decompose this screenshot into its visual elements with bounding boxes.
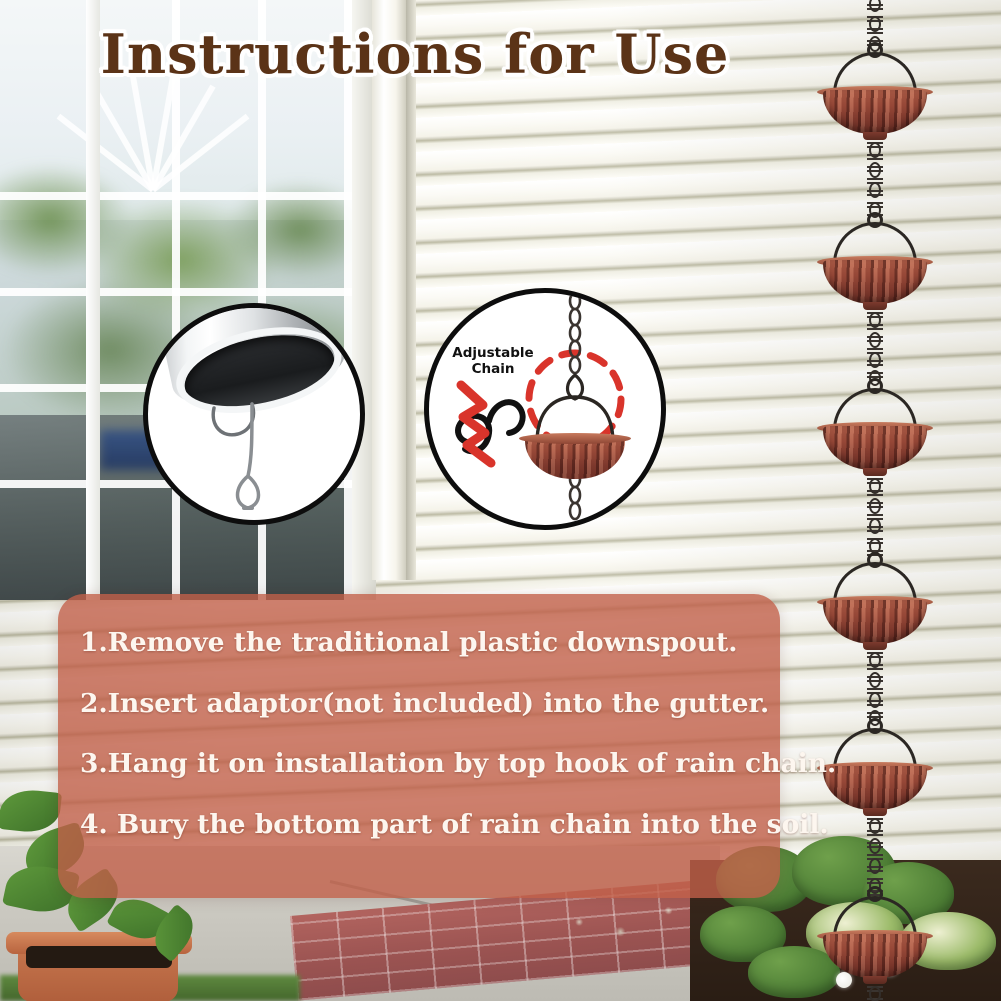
rain-chain: [805, 0, 945, 1001]
chain-link: [869, 858, 881, 874]
cup-bowl: [823, 600, 927, 644]
instruction-list: 1.Remove the traditional plastic downspo…: [58, 594, 780, 838]
rain-chain-cup: [805, 382, 945, 478]
chain-link: [869, 518, 881, 534]
product-instruction-image: Instructions for Use Adjustable Chain: [0, 0, 1001, 1001]
cup-bowl: [823, 260, 927, 304]
window-sash-left: [86, 0, 100, 600]
rain-chain-cup: [805, 890, 945, 986]
rain-chain-cup: [805, 216, 945, 312]
v-hook-illustration: [148, 308, 360, 520]
page-title: Instructions for Use: [0, 22, 830, 86]
chain-link: [869, 332, 881, 348]
chain-link: [869, 162, 881, 178]
cup-bowl: [823, 90, 927, 134]
rain-chain-cup-rim-detail: [519, 433, 631, 444]
cup-foot: [863, 132, 887, 140]
chain-link: [869, 652, 881, 668]
window-corner-trim-shadow: [406, 0, 416, 580]
chain-link: [869, 986, 881, 1001]
cup-foot: [863, 976, 887, 984]
callout-downspout-hook: [143, 303, 365, 525]
cup-bowl: [823, 766, 927, 810]
chain-link: [869, 838, 881, 854]
chain-link: [869, 692, 881, 708]
window-mullion-horizontal: [0, 288, 376, 296]
callout-adjustable-chain: Adjustable Chain: [424, 288, 666, 530]
instruction-step: 3.Hang it on installation by top hook of…: [80, 751, 780, 778]
cup-foot: [863, 468, 887, 476]
chain-link: [869, 478, 881, 494]
chain-link: [869, 818, 881, 834]
chain-link: [869, 672, 881, 688]
instructions-panel: 1.Remove the traditional plastic downspo…: [58, 594, 780, 898]
window-mullion-horizontal: [0, 192, 376, 200]
cup-foot: [863, 302, 887, 310]
adjustable-chain-diagram: [429, 293, 661, 525]
instruction-step: 2.Insert adaptor(not included) into the …: [80, 691, 780, 718]
rain-chain-cup: [805, 556, 945, 652]
chain-link: [869, 16, 881, 32]
chain-link: [869, 312, 881, 328]
window-corner-trim: [372, 0, 406, 580]
chain-link: [869, 498, 881, 514]
instruction-step: 1.Remove the traditional plastic downspo…: [80, 630, 780, 657]
pot-soil: [26, 946, 172, 968]
chain-link: [869, 142, 881, 158]
cup-foot: [863, 808, 887, 816]
cup-foot: [863, 642, 887, 650]
chain-link: [869, 352, 881, 368]
cup-bowl: [823, 934, 927, 978]
chain-links-top: [570, 293, 580, 373]
chain-link: [869, 182, 881, 198]
cup-bowl: [823, 426, 927, 470]
instruction-step: 4. Bury the bottom part of rain chain in…: [80, 812, 780, 839]
rain-chain-cup: [805, 46, 945, 142]
